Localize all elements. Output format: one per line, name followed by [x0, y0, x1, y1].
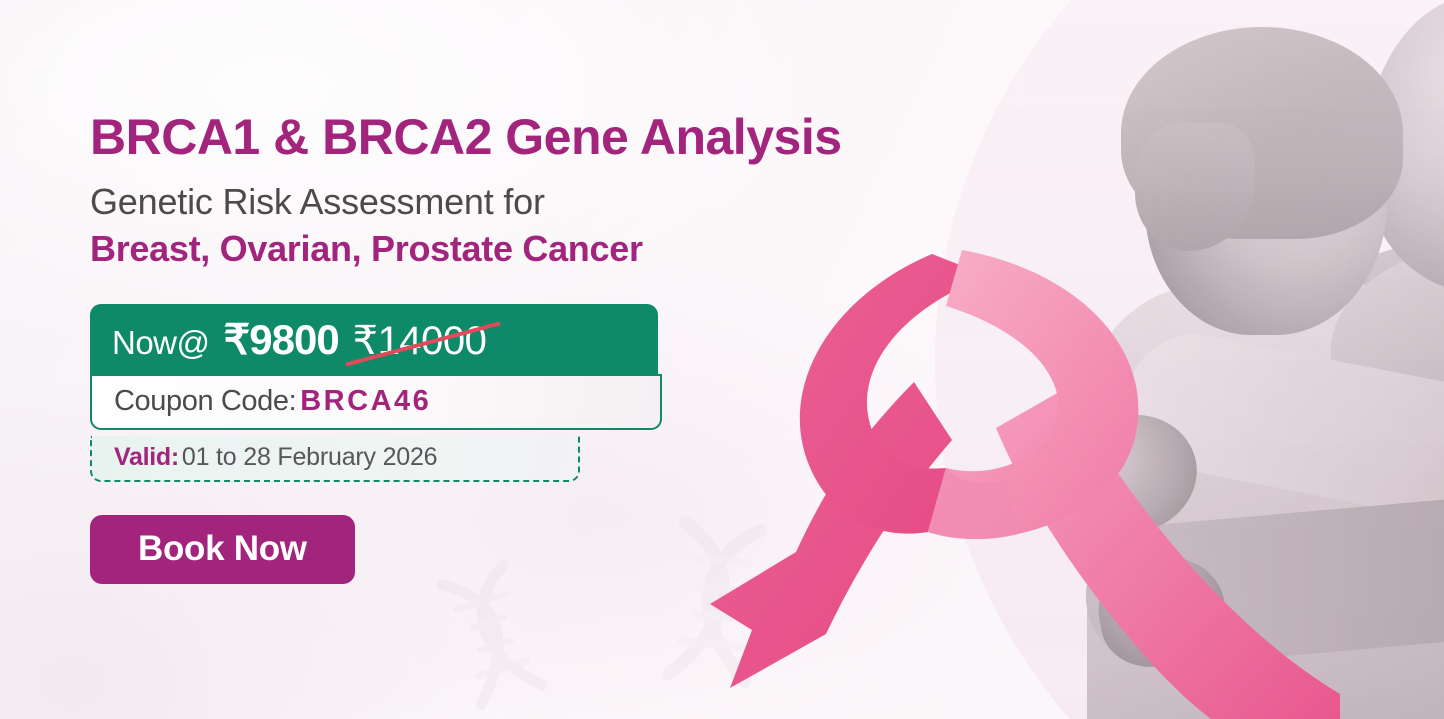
photo-stage: [935, 0, 1444, 719]
photo-color-tint: [935, 0, 1444, 719]
validity-dates: 01 to 28 February 2026: [182, 443, 438, 471]
coupon-row[interactable]: Coupon Code:BRCA46: [90, 374, 662, 430]
price-discounted: ₹9800: [224, 315, 339, 364]
coupon-label: Coupon Code:: [114, 385, 296, 417]
promo-banner: BRCA1 & BRCA2 Gene Analysis Genetic Risk…: [0, 0, 1444, 719]
subtitle-line2: Breast, Ovarian, Prostate Cancer: [90, 228, 950, 269]
book-now-button[interactable]: Book Now: [90, 515, 355, 584]
price-original-wrapper: ₹14000: [353, 318, 487, 364]
validity-label: Valid:: [114, 443, 179, 471]
couple-photo: [935, 0, 1444, 719]
coupon-code-value[interactable]: BRCA46: [300, 385, 431, 417]
subtitle-line1: Genetic Risk Assessment for: [90, 181, 950, 222]
price-original: ₹14000: [353, 319, 487, 363]
price-row: Now@ ₹9800 ₹14000: [90, 304, 658, 376]
price-now-label: Now@: [112, 324, 210, 362]
validity-row: Valid:01 to 28 February 2026: [90, 436, 580, 482]
offer-box: Now@ ₹9800 ₹14000 Coupon Code:BRCA46 Val…: [90, 304, 662, 482]
banner-content: BRCA1 & BRCA2 Gene Analysis Genetic Risk…: [90, 110, 950, 584]
page-title: BRCA1 & BRCA2 Gene Analysis: [90, 110, 950, 165]
